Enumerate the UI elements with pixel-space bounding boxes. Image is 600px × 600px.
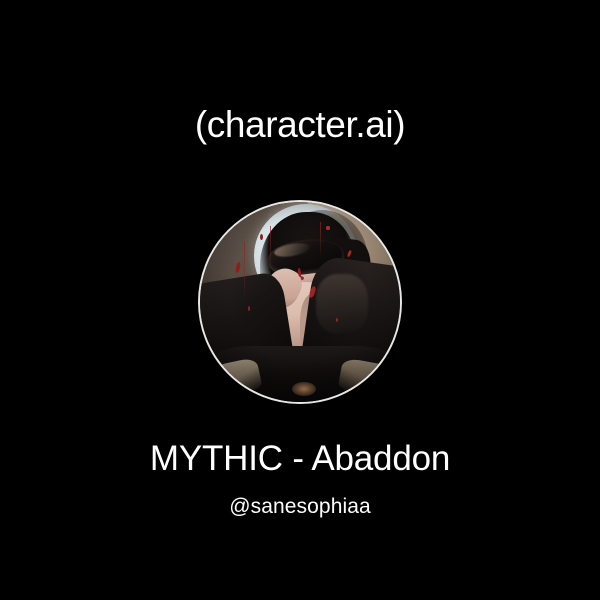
avatar-container[interactable] xyxy=(198,200,402,404)
page-title: (character.ai) xyxy=(0,103,600,147)
character-handle: @sanesophiaa xyxy=(0,494,600,520)
character-name: MYTHIC - Abaddon xyxy=(0,438,600,480)
avatar-vignette xyxy=(200,202,400,402)
avatar[interactable] xyxy=(198,200,402,404)
character-avatar-icon xyxy=(200,202,400,402)
character-profile-card: (character.ai) xyxy=(0,0,600,600)
